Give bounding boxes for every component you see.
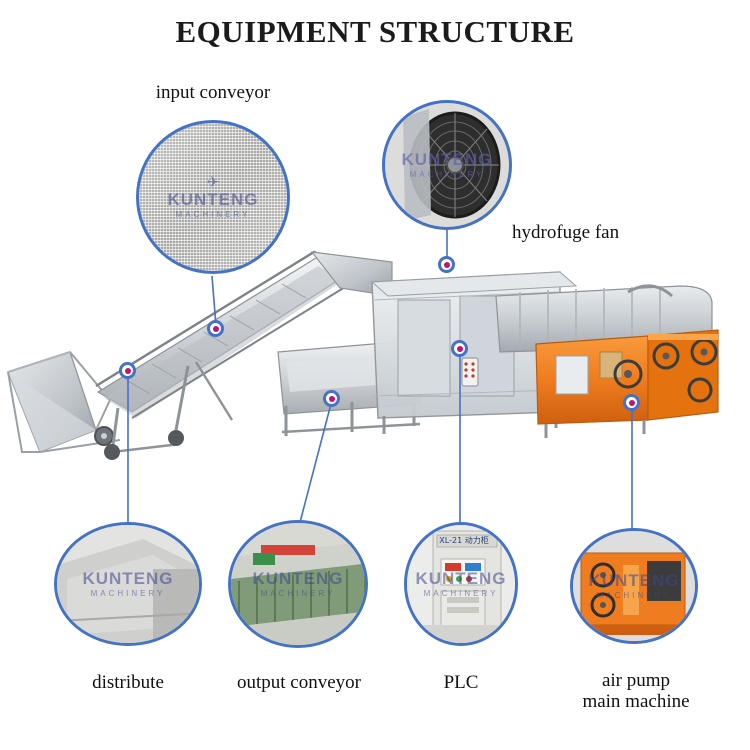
marker-input-conveyor[interactable]	[207, 320, 224, 337]
photo-distribute: KUNTENG MACHINERY	[57, 525, 199, 643]
fan-graphic	[385, 103, 512, 230]
plc-model-label: XL-21 动力柜	[407, 537, 518, 546]
callout-label-air-pump: air pump main machine	[566, 670, 706, 713]
marker-output-conveyor[interactable]	[323, 390, 340, 407]
air-pump-graphic	[573, 531, 698, 644]
marker-plc[interactable]	[451, 340, 468, 357]
distribute-graphic	[57, 525, 202, 646]
photo-input-conveyor: ✈ KUNTENG MACHINERY	[139, 123, 287, 271]
photo-hydrofuge-fan: KUNTENG MACHINERY	[385, 103, 509, 227]
callout-bubble-distribute[interactable]: KUNTENG MACHINERY	[54, 522, 202, 646]
callout-label-plc: PLC	[404, 672, 518, 693]
callout-label-air-pump-line2: main machine	[566, 691, 706, 712]
marker-air-pump[interactable]	[623, 394, 640, 411]
callout-label-hydrofuge-fan: hydrofuge fan	[512, 222, 619, 243]
marker-hydrofuge-fan[interactable]	[438, 256, 455, 273]
marker-distribute[interactable]	[119, 362, 136, 379]
callout-bubble-plc[interactable]: XL-21 动力柜 KUNTENG MACHINERY	[404, 522, 518, 646]
callout-bubble-air-pump[interactable]: KUNTENG MACHINERY	[570, 528, 698, 644]
callout-label-input-conveyor: input conveyor	[118, 82, 308, 103]
photo-plc: XL-21 动力柜 KUNTENG MACHINERY	[407, 525, 515, 643]
diagram-canvas: EQUIPMENT STRUCTURE	[0, 0, 750, 750]
callout-bubble-output-conveyor[interactable]: KUNTENG MACHINERY	[228, 520, 368, 648]
page-title: EQUIPMENT STRUCTURE	[0, 14, 750, 50]
callout-bubble-hydrofuge-fan[interactable]: KUNTENG MACHINERY	[382, 100, 512, 230]
photo-air-pump: KUNTENG MACHINERY	[573, 531, 695, 641]
photo-output-conveyor: KUNTENG MACHINERY	[231, 523, 365, 645]
callout-label-distribute: distribute	[54, 672, 202, 693]
callout-label-output-conveyor: output conveyor	[208, 672, 390, 693]
callout-bubble-input-conveyor[interactable]: ✈ KUNTENG MACHINERY	[136, 120, 290, 274]
watermark-input-conveyor: ✈ KUNTENG MACHINERY	[139, 175, 287, 219]
callout-label-air-pump-line1: air pump	[566, 670, 706, 691]
output-conveyor-graphic	[231, 523, 368, 648]
